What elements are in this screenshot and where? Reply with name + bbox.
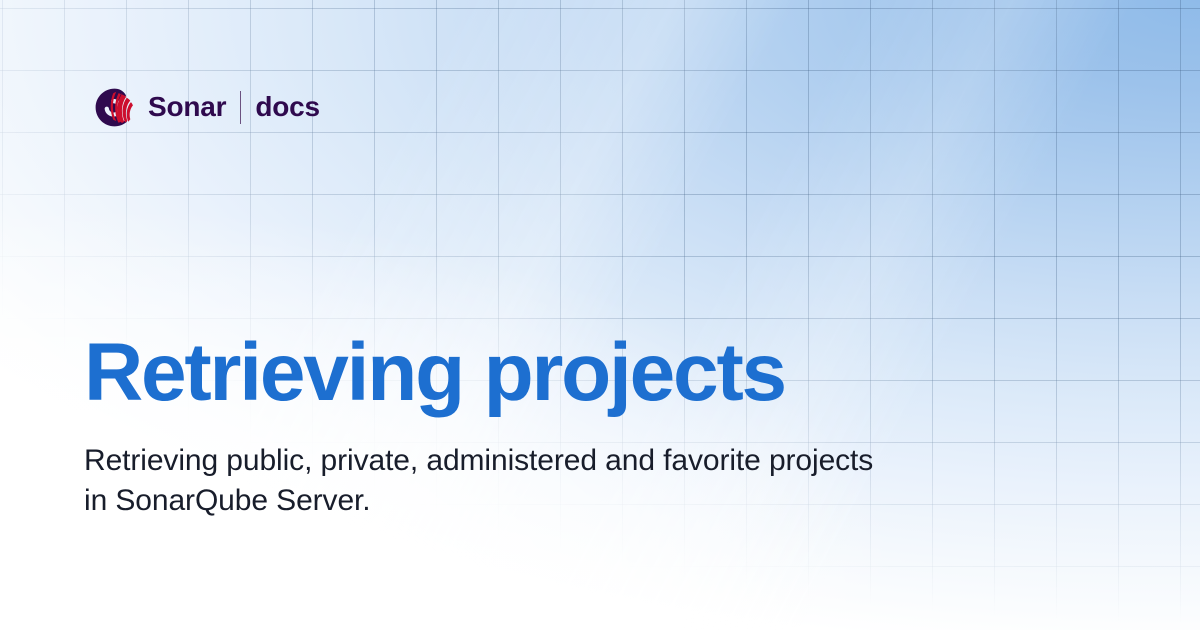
sonar-logo-mark <box>94 87 135 128</box>
brand-section: docs <box>255 93 320 121</box>
hero-content: Retrieving projects Retrieving public, p… <box>84 330 1084 521</box>
social-card-banner: Sonar docs Retrieving projects Retrievin… <box>0 0 1200 630</box>
page-subtitle: Retrieving public, private, administered… <box>84 441 874 521</box>
page-title: Retrieving projects <box>84 330 1084 417</box>
sonar-wordmark: Sonar docs <box>148 91 320 124</box>
logo-divider <box>240 91 241 124</box>
sonar-docs-logo[interactable]: Sonar docs <box>94 86 320 128</box>
brand-name: Sonar <box>148 93 226 121</box>
